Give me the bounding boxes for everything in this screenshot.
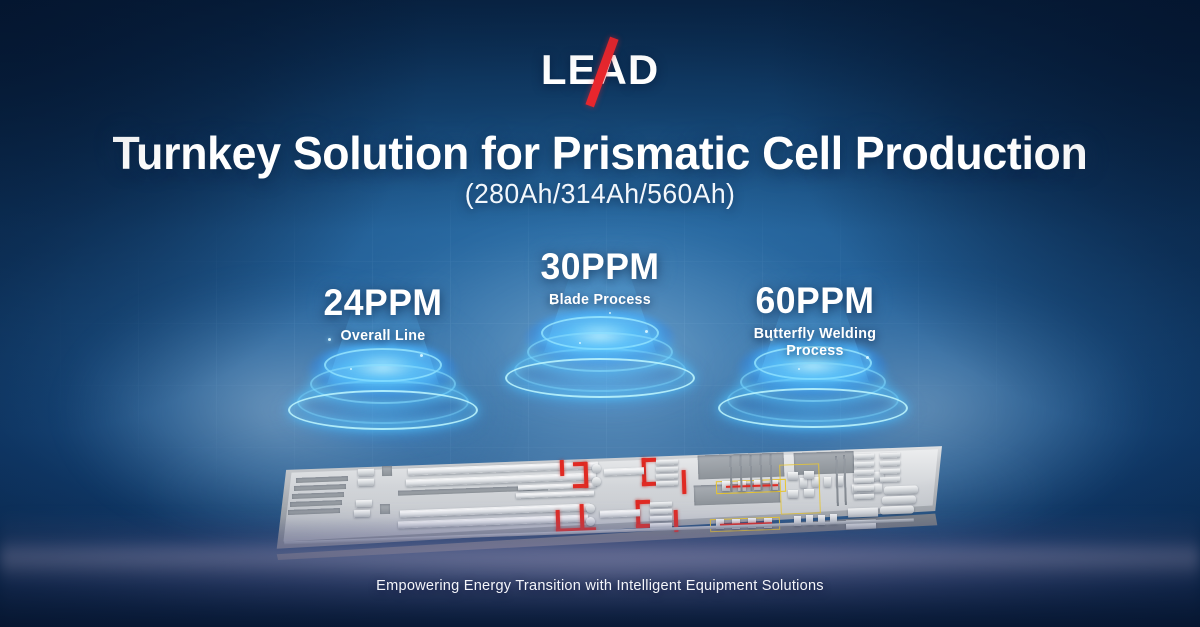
- machine-module: [854, 478, 874, 484]
- page-title: Turnkey Solution for Prismatic Cell Prod…: [18, 126, 1182, 180]
- machine-module: [880, 461, 900, 467]
- machine-module: [880, 453, 900, 459]
- machine-module: [854, 494, 874, 500]
- hologram-spark: [609, 312, 611, 314]
- hologram-spark: [420, 354, 423, 357]
- machine-red-segment: [573, 484, 587, 488]
- machine-module: [354, 510, 370, 518]
- hologram-ring: [514, 348, 686, 392]
- stat-value: 60PPM: [705, 280, 926, 322]
- poster-canvas: LEAD Turnkey Solution for Prismatic Cell…: [0, 0, 1200, 627]
- hologram-ring: [324, 348, 442, 382]
- hologram-ring: [718, 388, 908, 428]
- machine-module: [358, 469, 374, 477]
- stat-label: Blade Process: [491, 291, 710, 308]
- machine-red-segment: [580, 504, 585, 530]
- hologram-glow: [495, 344, 705, 416]
- machine-conveyor: [600, 509, 640, 517]
- machine-cell: [788, 472, 798, 480]
- machine-module: [650, 509, 672, 515]
- hologram-ring: [310, 364, 456, 404]
- machine-roller: [592, 464, 601, 473]
- hologram-ring: [740, 362, 886, 402]
- machine-module: [848, 507, 878, 517]
- machine-module: [358, 479, 374, 487]
- machine-module: [854, 470, 874, 476]
- machine-conveyor: [604, 467, 644, 475]
- stat-value: 30PPM: [490, 246, 711, 288]
- machine-module: [854, 454, 874, 460]
- stat-blade-process: 30PPM Blade Process: [485, 246, 715, 308]
- hologram-spark: [350, 368, 352, 370]
- stat-label: Overall Line: [274, 327, 493, 344]
- machine-red-segment: [682, 470, 687, 494]
- machine-red-segment: [636, 500, 650, 504]
- machine-module: [854, 462, 874, 468]
- hologram-ring: [527, 332, 673, 372]
- stat-label: Butterfly Welding Process: [734, 325, 896, 359]
- machine-red-segment: [560, 460, 565, 476]
- machine-red-segment: [642, 482, 656, 486]
- machine-cylinder: [884, 485, 918, 494]
- machine-module: [380, 504, 390, 514]
- hologram-ring: [505, 358, 695, 398]
- hologram-ring: [727, 378, 899, 422]
- production-line-render: [270, 444, 942, 560]
- machine-module: [656, 481, 678, 487]
- logo-wrap: LEAD: [541, 48, 659, 92]
- machine-red-segment: [642, 458, 656, 462]
- machine-cell: [804, 489, 814, 497]
- page-subtitle: (280Ah/314Ah/560Ah): [30, 178, 1170, 210]
- stat-value: 24PPM: [273, 282, 494, 324]
- machine-cell: [788, 490, 798, 498]
- machine-module: [650, 516, 672, 522]
- machine-module: [880, 477, 900, 483]
- machine-module: [824, 477, 831, 487]
- machine-cylinder: [882, 495, 916, 504]
- machine-module: [880, 469, 900, 475]
- machine-roller: [586, 504, 595, 513]
- machine-cylinder: [880, 505, 914, 514]
- hologram-spark: [645, 330, 648, 333]
- machine-roller: [592, 477, 601, 486]
- footer-tagline: Empowering Energy Transition with Intell…: [18, 577, 1182, 594]
- hologram-glow: [278, 376, 488, 448]
- hologram-glow: [708, 374, 918, 446]
- machine-module: [650, 502, 672, 508]
- hologram-ring: [297, 380, 469, 424]
- hologram-core: [525, 310, 675, 366]
- hologram-spark: [798, 368, 800, 370]
- machine-module: [656, 474, 678, 480]
- machine-module: [656, 460, 678, 466]
- machine-roller: [586, 517, 595, 526]
- hologram-core: [308, 342, 458, 398]
- brand-logo: LEAD: [0, 48, 1200, 96]
- stat-butterfly-welding: 60PPM Butterfly Welding Process: [700, 280, 930, 359]
- hologram-ring: [288, 390, 478, 430]
- machine-module: [656, 467, 678, 473]
- machine-module: [382, 466, 392, 476]
- machine-module: [356, 500, 372, 508]
- machine-cell-station: [779, 463, 821, 514]
- hologram-ring: [541, 316, 659, 350]
- machine-cell: [804, 471, 814, 479]
- hologram-spark: [579, 342, 581, 344]
- stat-overall-line: 24PPM Overall Line: [268, 282, 498, 344]
- machine-module: [854, 486, 874, 492]
